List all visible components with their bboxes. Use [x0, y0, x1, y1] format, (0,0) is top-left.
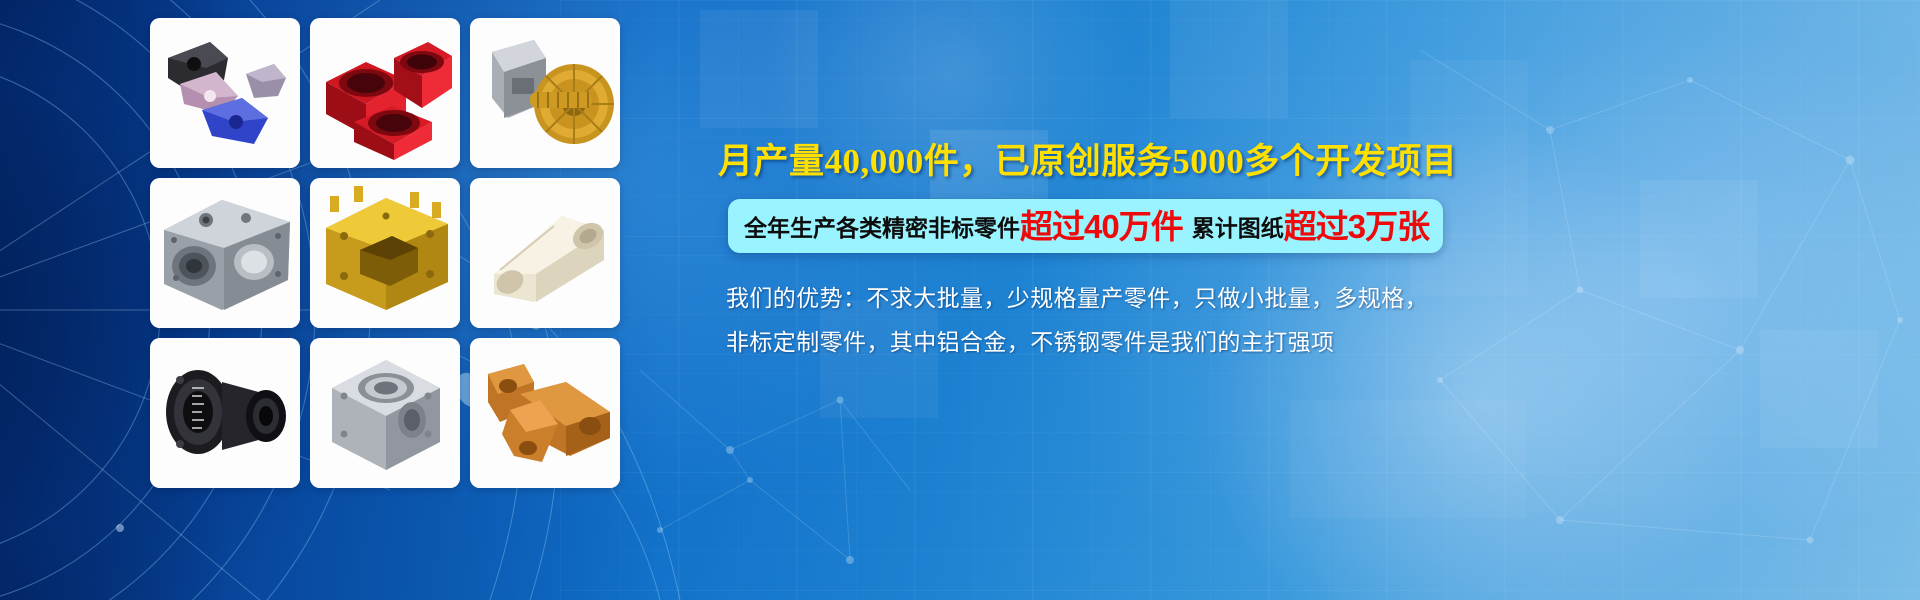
banner-copy-block: 月产量40,000件，已原创服务5000多个开发项目 全年生产各类精密非标零件超… [718, 0, 1908, 600]
ribbon-segment-1: 全年生产各类精密非标零件 [744, 209, 1020, 243]
highlight-ribbon: 全年生产各类精密非标零件超过40万件累计图纸超过3万张 [728, 199, 1443, 253]
ribbon-segment-3: 累计图纸 [1192, 209, 1284, 243]
brass-worm-gear-assembly-photo [470, 18, 620, 168]
product-cell-brass-worm-gear-assembly[interactable] [470, 18, 620, 168]
product-cell-black-anodized-hub[interactable] [150, 338, 300, 488]
machined-cube-block-photo [310, 338, 460, 488]
product-cell-gold-anodized-frame-plate[interactable] [310, 178, 460, 328]
black-anodized-hub-photo [150, 338, 300, 488]
aluminum-gearbox-housing-photo [150, 178, 300, 328]
product-cell-aluminum-gearbox-housing[interactable] [150, 178, 300, 328]
banner-body-copy: 我们的优势：不求大批量，少规格量产零件，只做小批量，多规格， 非标定制零件，其中… [726, 276, 1466, 364]
ribbon-segment-4-highlight: 超过3万张 [1284, 210, 1429, 243]
red-anodized-cylinders-photo [310, 18, 460, 168]
anodized-aluminum-brackets-photo [150, 18, 300, 168]
product-cell-red-anodized-cylinders[interactable] [310, 18, 460, 168]
gold-anodized-frame-plate-photo [310, 178, 460, 328]
product-image-grid [150, 18, 620, 578]
body-copy-line-2: 非标定制零件，其中铝合金，不锈钢零件是我们的主打强项 [726, 320, 1466, 364]
product-cell-white-peek-tube-part[interactable] [470, 178, 620, 328]
white-peek-tube-part-photo [470, 178, 620, 328]
product-cell-anodized-aluminum-brackets[interactable] [150, 18, 300, 168]
product-cell-machined-cube-block[interactable] [310, 338, 460, 488]
body-copy-line-1: 我们的优势：不求大批量，少规格量产零件，只做小批量，多规格， [726, 276, 1466, 320]
banner-headline: 月产量40,000件，已原创服务5000多个开发项目 [718, 133, 1457, 184]
product-cell-copper-anodized-arm-bracket[interactable] [470, 338, 620, 488]
ribbon-segment-2-highlight: 超过40万件 [1020, 210, 1183, 243]
promo-banner: 月产量40,000件，已原创服务5000多个开发项目 全年生产各类精密非标零件超… [0, 0, 1920, 600]
copper-anodized-arm-bracket-photo [470, 338, 620, 488]
